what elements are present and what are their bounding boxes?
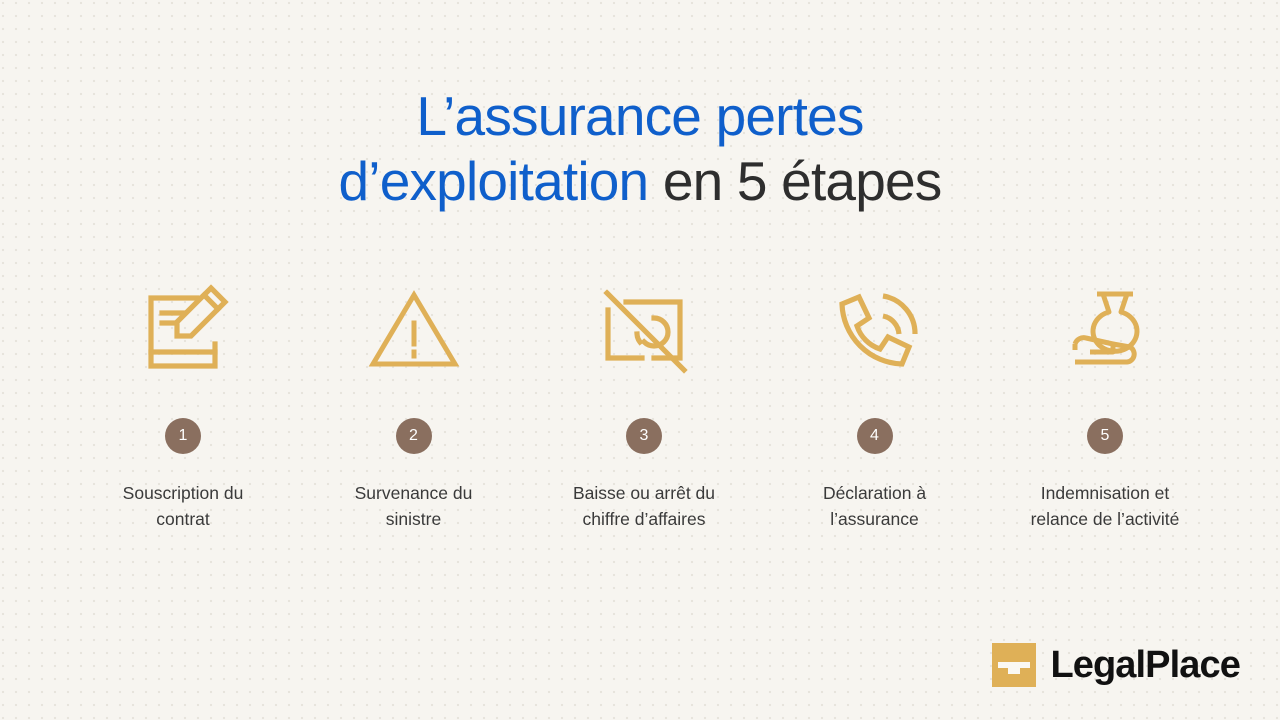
step-item-1: 1 Souscription du contrat [74,282,292,533]
step-label: Souscription du contrat [76,481,291,533]
title-accent-part-1: L’assurance pertes [416,85,863,147]
step-label: Survenance du sinistre [306,481,521,533]
phone-call-icon [827,282,923,378]
steps-row: 1 Souscription du contrat 2 Survenance d… [74,282,1214,533]
infographic-slide: L’assurance pertes d’exploitation en 5 é… [0,0,1280,720]
step-number-badge: 2 [396,418,432,454]
legalplace-wordmark: LegalPlace [1050,646,1240,684]
document-pencil-icon [135,282,231,378]
no-revenue-chart-icon [596,282,692,378]
step-number-badge: 1 [165,418,201,454]
title-plain-part: en 5 étapes [648,150,941,212]
title-line-2: d’exploitation en 5 étapes [0,149,1280,214]
step-number-badge: 3 [626,418,662,454]
step-item-5: 5 Indemnisation et relance de l’activité [996,282,1214,533]
title-accent-part-2: d’exploitation [338,150,648,212]
step-number-badge: 4 [857,418,893,454]
legalplace-logo[interactable]: LegalPlace [992,643,1240,687]
money-bag-hand-icon [1057,282,1153,378]
title-line-1: L’assurance pertes [0,84,1280,149]
step-label: Baisse ou arrêt du chiffre d’affaires [537,481,752,533]
step-number-badge: 5 [1087,418,1123,454]
warning-triangle-icon [366,282,462,378]
step-label: Déclaration à l’assurance [767,481,982,533]
step-item-2: 2 Survenance du sinistre [305,282,523,533]
step-item-3: 3 Baisse ou arrêt du chiffre d’affaires [535,282,753,533]
step-label: Indemnisation et relance de l’activité [998,481,1213,533]
legalplace-mark-icon [992,643,1036,687]
step-item-4: 4 Déclaration à l’assurance [766,282,984,533]
page-title: L’assurance pertes d’exploitation en 5 é… [0,84,1280,214]
